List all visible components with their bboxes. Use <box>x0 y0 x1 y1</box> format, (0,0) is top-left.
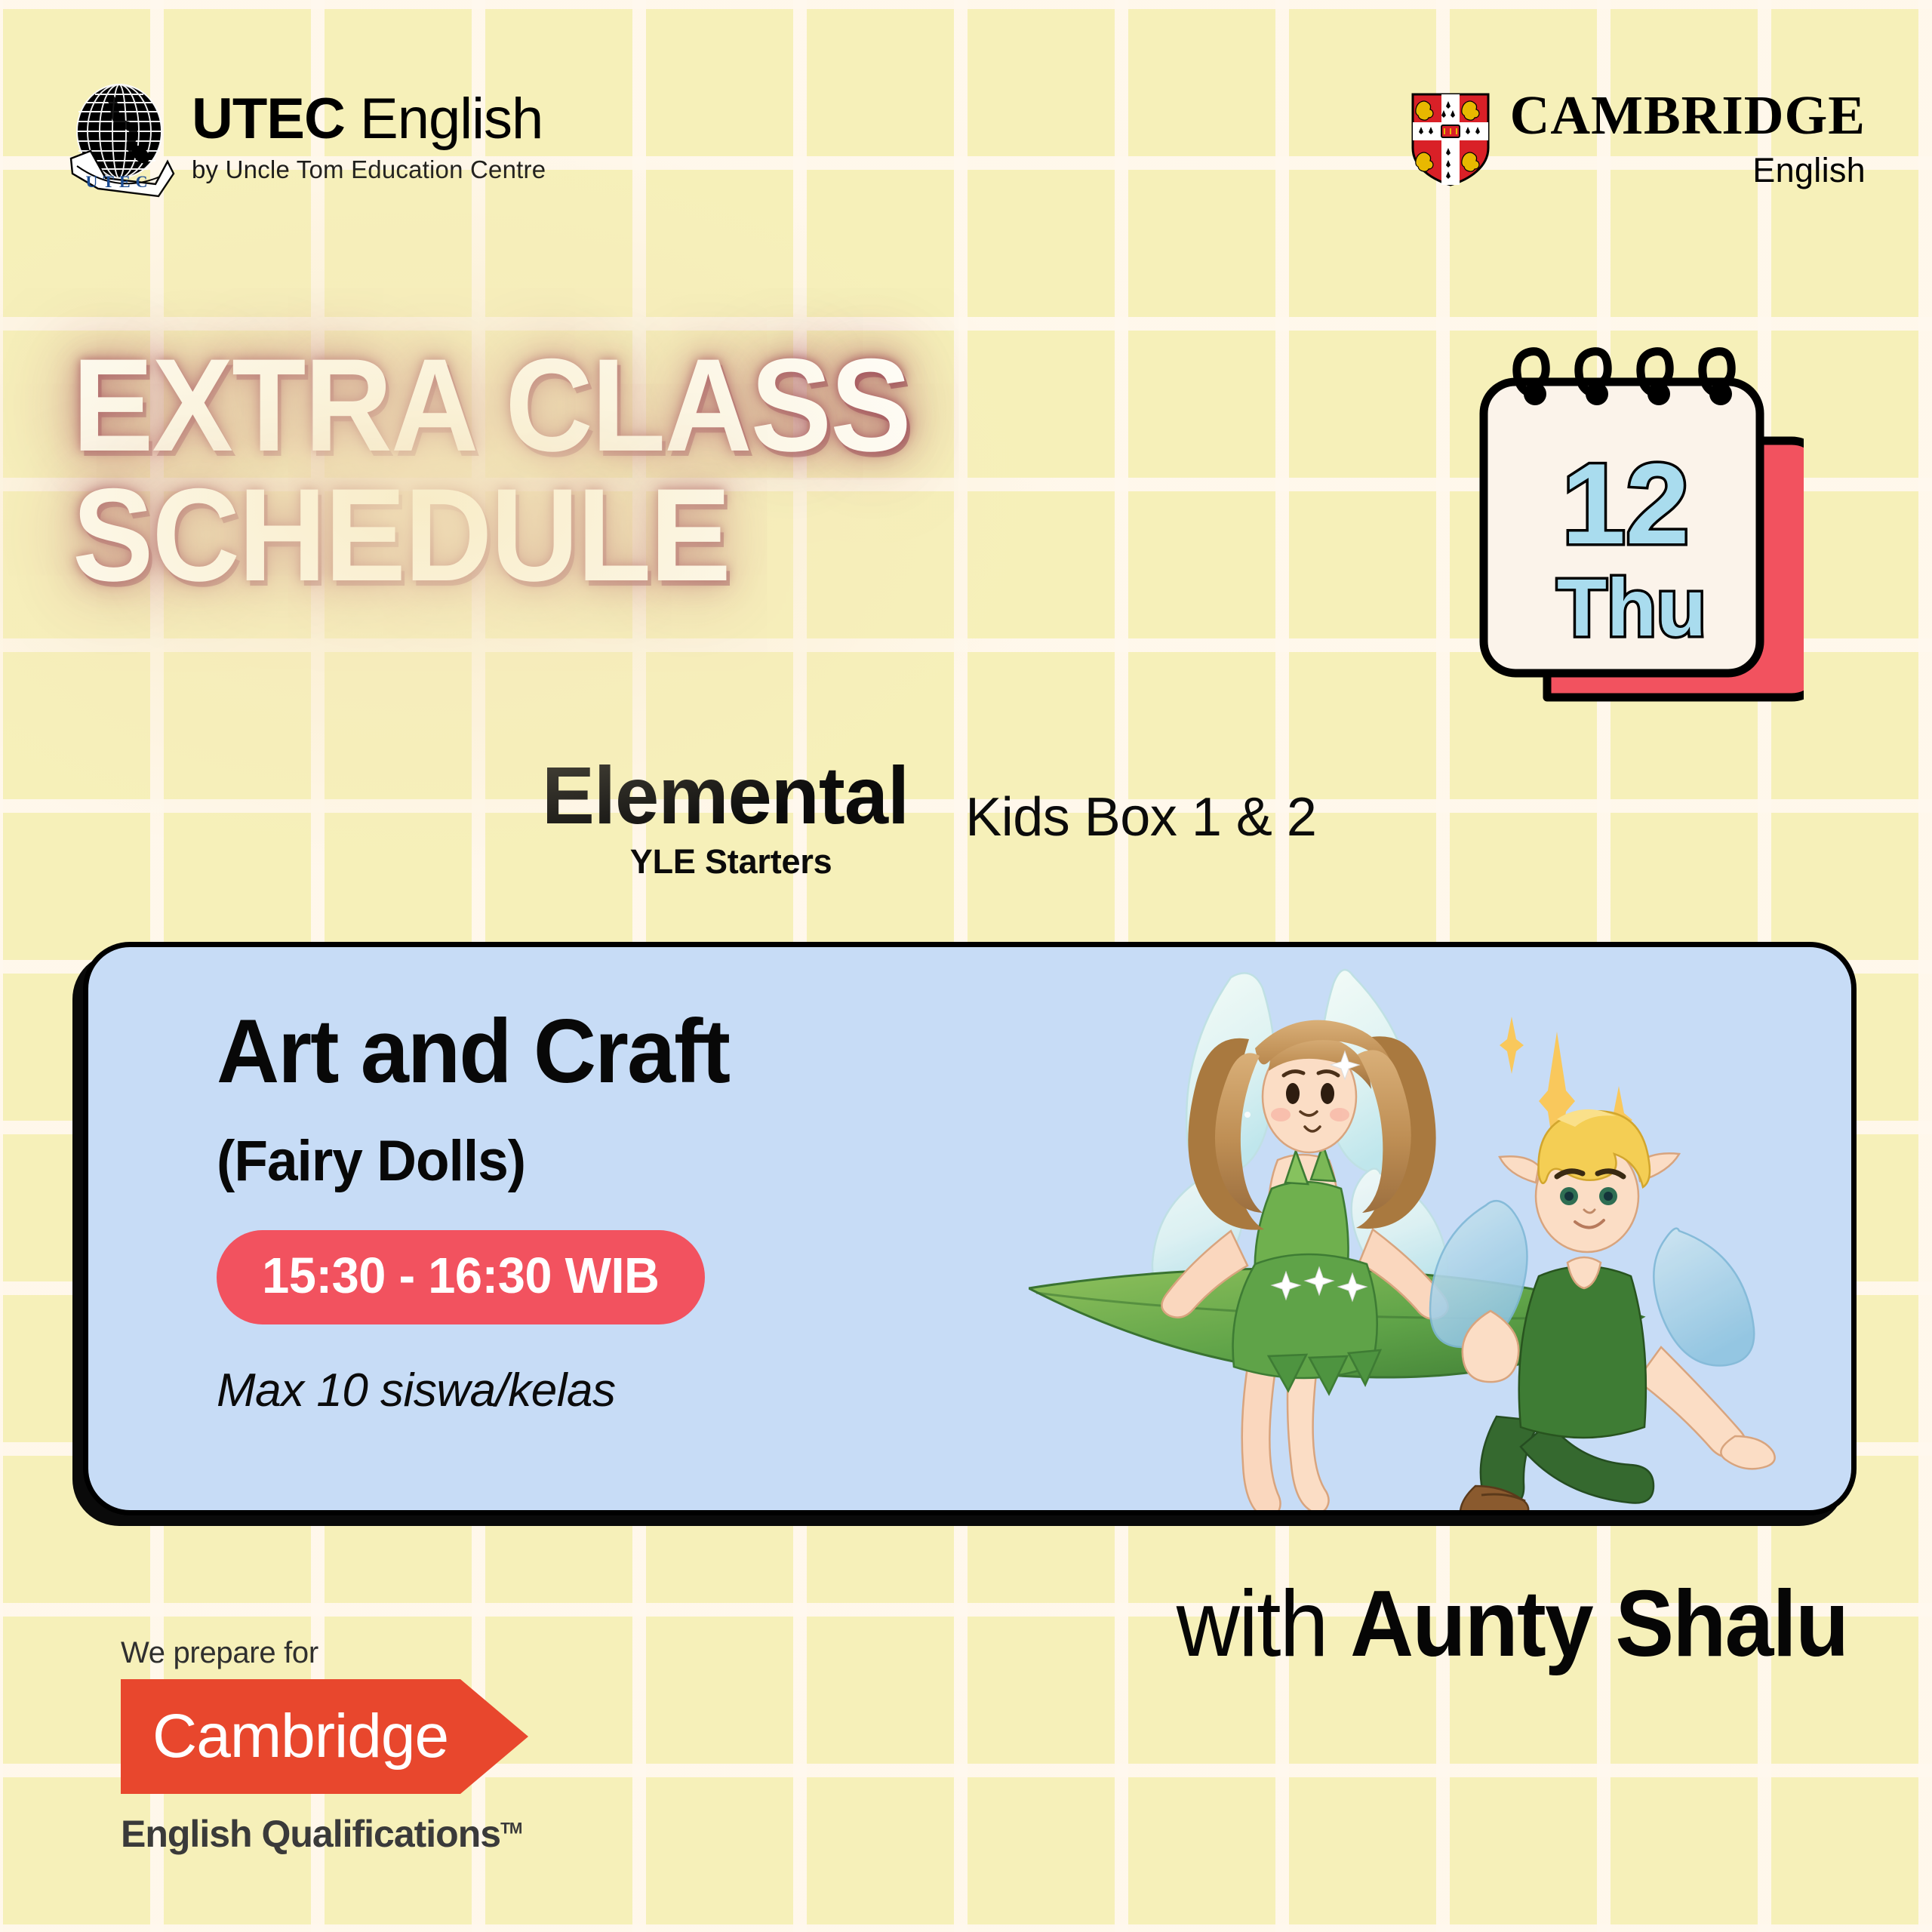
cambridge-english-logo: CAMBRIDGE English <box>1411 89 1866 190</box>
cambridge-qualifications-logo: We prepare for Cambridge English Qualifi… <box>121 1636 604 1856</box>
utec-title: UTEC English <box>192 91 546 148</box>
program-line: Elemental YLE Starters Kids Box 1 & 2 <box>542 755 1316 881</box>
teacher-credit: with Aunty Shalu <box>1176 1577 1847 1671</box>
teacher-name: Aunty Shalu <box>1350 1572 1847 1676</box>
qualifications-label: English QualificationsTM <box>121 1812 604 1856</box>
class-time-badge: 15:30 - 16:30 WIB <box>217 1230 705 1324</box>
calendar-icon: 12 Thu <box>1457 325 1804 717</box>
calendar-day-name: Thu <box>1557 561 1706 653</box>
heraldic-shield-icon <box>1411 92 1491 187</box>
fairy-illustration <box>1029 942 1844 1515</box>
utec-title-light: English <box>360 87 543 151</box>
teacher-prefix: with <box>1176 1572 1327 1676</box>
utec-ribbon-label: UTEC <box>85 172 152 191</box>
fairy-boy-illustration <box>1430 1109 1775 1515</box>
qualifications-text: English Qualifications <box>121 1813 500 1855</box>
cambridge-english-label: English <box>1510 151 1866 190</box>
program-name: Elemental <box>542 755 909 836</box>
banner-label: Cambridge <box>152 1701 448 1772</box>
headline-line-2: SCHEDULE <box>72 471 1211 601</box>
class-subtitle: (Fairy Dolls) <box>217 1128 729 1194</box>
cambridge-wordmark: CAMBRIDGE <box>1510 89 1866 142</box>
globe-icon: UTEC <box>60 82 175 201</box>
boy-ear-left <box>1500 1156 1539 1183</box>
utec-logo: UTEC UTEC English by Uncle Tom Education… <box>60 82 546 201</box>
utec-tagline: by Uncle Tom Education Centre <box>192 155 546 184</box>
program-book: Kids Box 1 & 2 <box>965 755 1316 848</box>
class-card: Art and Craft (Fairy Dolls) 15:30 - 16:3… <box>83 942 1857 1515</box>
class-capacity-note: Max 10 siswa/kelas <box>217 1364 750 1417</box>
poster-canvas: UTEC UTEC English by Uncle Tom Education… <box>0 0 1932 1932</box>
banner-arrow-tip <box>460 1679 528 1794</box>
class-title: Art and Craft <box>217 1006 729 1097</box>
prepare-for-label: We prepare for <box>121 1636 604 1670</box>
trademark-symbol: TM <box>500 1820 521 1837</box>
cambridge-banner: Cambridge <box>121 1679 528 1794</box>
page-title: EXTRA CLASS SCHEDULE <box>72 341 1211 600</box>
headline-line-1: EXTRA CLASS <box>72 332 910 479</box>
calendar-day-number: 12 <box>1561 440 1689 568</box>
program-level: YLE Starters <box>542 842 920 881</box>
utec-title-bold: UTEC <box>192 87 345 151</box>
